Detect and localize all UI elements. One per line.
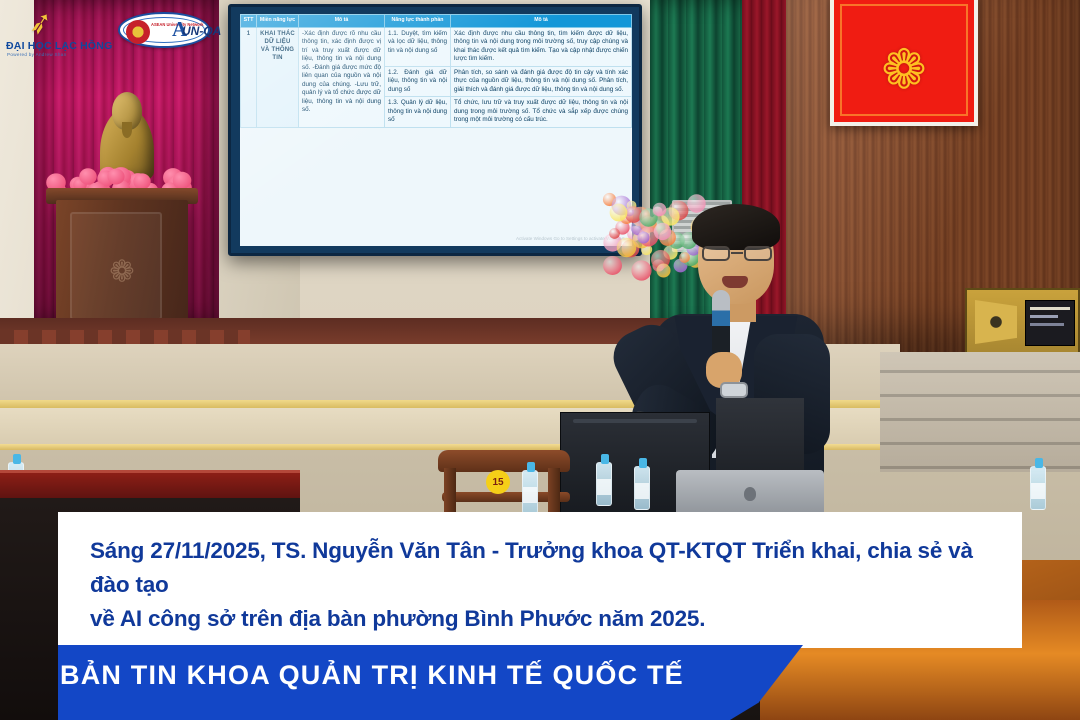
presenter-mouth bbox=[722, 276, 748, 288]
front-table bbox=[0, 470, 300, 500]
laptop-computer bbox=[676, 470, 824, 518]
university-logo: ➶ ĐẠI HỌC LẠC HỒNG Powered by Andrew Sha… bbox=[4, 6, 100, 58]
col-header-component: Năng lực thành phần bbox=[385, 15, 451, 28]
cell-component-desc-2: Phân tích, so sánh và đánh giá được độ t… bbox=[451, 66, 632, 97]
table-row: 1 KHAI THÁC DỮ LIỆU VÀ THÔNG TIN -Xác đị… bbox=[241, 27, 632, 66]
cell-component-desc-1: Xác định được nhu cầu thông tin, tìm kiế… bbox=[451, 27, 632, 66]
cell-component-3: 1.3. Quản lý dữ liệu, thông tin và nội d… bbox=[385, 97, 451, 128]
water-bottle bbox=[522, 470, 538, 514]
university-tagline: Powered by Andrew Shan bbox=[7, 52, 66, 57]
caption-card: Sáng 27/11/2025, TS. Nguyễn Văn Tân - Tr… bbox=[58, 512, 1022, 648]
eyeglasses-icon bbox=[702, 246, 772, 262]
col-header-domain: Miền năng lực bbox=[257, 15, 299, 28]
chair-number-tag: 15 bbox=[486, 470, 510, 494]
bulletin-banner-strip bbox=[58, 703, 758, 720]
caption-line-2: về AI công sở trên địa bàn phường Bình P… bbox=[90, 602, 1000, 636]
cell-component-desc-3: Tổ chức, lưu trữ và truy xuất được dữ li… bbox=[451, 97, 632, 128]
water-bottle bbox=[1030, 466, 1046, 510]
wristwatch-icon bbox=[720, 382, 748, 398]
water-bottle bbox=[596, 462, 612, 506]
col-header-desc: Mô tả bbox=[299, 15, 385, 28]
phoenix-bird-icon: ➶ bbox=[25, 4, 57, 43]
water-bottle bbox=[634, 466, 650, 510]
aun-qa-logo: ASEAN University Network A UN-QA bbox=[118, 12, 210, 48]
cell-component-2: 1.2. Đánh giá dữ liệu, thông tin và nội … bbox=[385, 66, 451, 97]
lotus-icon: ❁ bbox=[881, 43, 926, 97]
bulletin-banner-title: BẢN TIN KHOA QUẢN TRỊ KINH TẾ QUỐC TẾ bbox=[60, 655, 760, 695]
caption-text: Sáng 27/11/2025, TS. Nguyễn Văn Tân - Tr… bbox=[90, 534, 1000, 637]
col-header-stt: STT bbox=[241, 15, 257, 28]
laptop-logo-icon bbox=[744, 487, 756, 501]
university-name: ĐẠI HỌC LẠC HỒNG bbox=[6, 40, 112, 52]
lotus-wall-panel: ❁ bbox=[830, 0, 978, 126]
asean-seal-icon bbox=[126, 20, 150, 44]
cell-domain-desc: -Xác định được rõ nhu cầu thông tin, xác… bbox=[299, 27, 385, 127]
cell-domain: KHAI THÁC DỮ LIỆU VÀ THÔNG TIN bbox=[257, 27, 299, 127]
bust-beard bbox=[122, 122, 132, 138]
amp-panel bbox=[1025, 300, 1075, 346]
presenter-hair bbox=[692, 204, 780, 250]
table-header-row: STT Miền năng lực Mô tả Năng lực thành p… bbox=[241, 15, 632, 28]
horn-speaker-icon bbox=[975, 300, 1017, 344]
podium-lotus-icon: ❁ bbox=[109, 254, 134, 289]
aun-qa-text: UN-QA bbox=[182, 24, 221, 38]
cell-stt: 1 bbox=[241, 27, 257, 127]
projector-screen: STT Miền năng lực Mô tả Năng lực thành p… bbox=[240, 14, 632, 246]
stage-steps bbox=[880, 352, 1080, 472]
col-header-desc-2: Mô tả bbox=[451, 15, 632, 28]
cell-component-1: 1.1. Duyệt, tìm kiếm và lọc dữ liệu, thô… bbox=[385, 27, 451, 66]
caption-line-1: Sáng 27/11/2025, TS. Nguyễn Văn Tân - Tr… bbox=[90, 534, 1000, 602]
slide-competency-table: STT Miền năng lực Mô tả Năng lực thành p… bbox=[240, 14, 632, 128]
photo-news-card: ❁ STT Miền năng lực Mô tả Năng lực thành… bbox=[0, 0, 1080, 720]
